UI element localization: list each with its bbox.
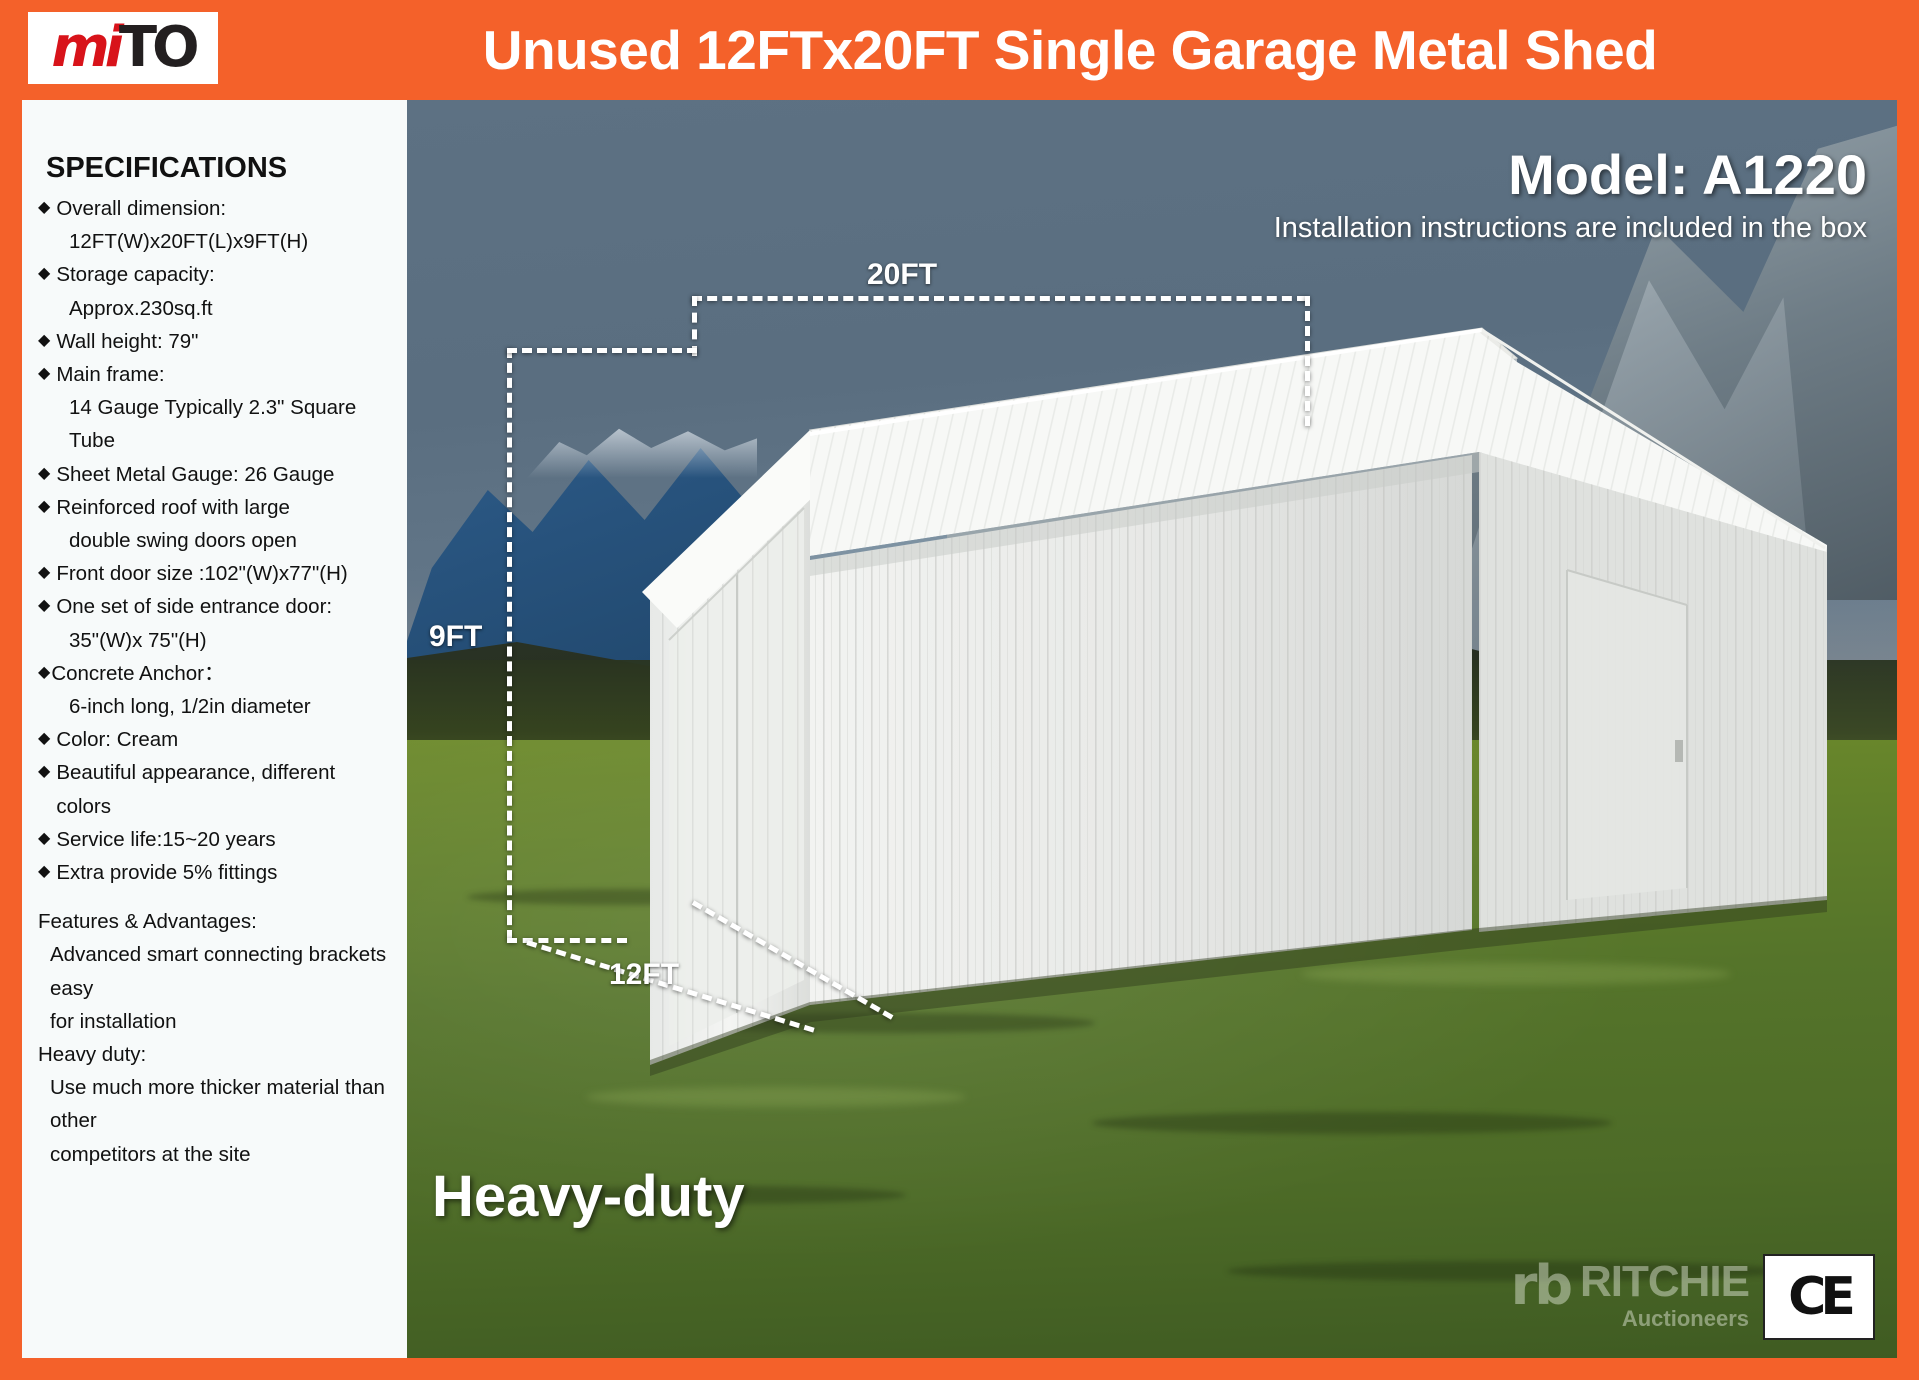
watermark-subtitle: Auctioneers [1580, 1308, 1749, 1330]
ritchie-bros-watermark: rb RITCHIE Auctioneers [1511, 1260, 1749, 1330]
dimension-label-length: 20FT [867, 258, 937, 292]
logo-red-part: mi [51, 15, 119, 80]
watermark-text: RITCHIE Auctioneers [1580, 1260, 1749, 1330]
features-line-2: for installation [38, 1005, 393, 1038]
spec-item: ◆Sheet Metal Gauge: 26 Gauge [38, 458, 393, 491]
spec-item: ◆Reinforced roof with large [38, 491, 393, 524]
model-subtitle: Installation instructions are included i… [1274, 212, 1867, 245]
specifications-panel: SPECIFICATIONS ◆Overall dimension:12FT(W… [22, 100, 407, 1358]
watermark-name: RITCHIE [1580, 1260, 1749, 1304]
bullet-diamond-icon: ◆ [38, 358, 50, 390]
features-line-1: Advanced smart connecting brackets easy [38, 938, 393, 1004]
spec-item-label: Wall height: 79" [56, 325, 393, 358]
bullet-diamond-icon: ◆ [38, 192, 50, 224]
spec-item-continuation: 6-inch long, 1/2in diameter [38, 690, 393, 723]
bullet-diamond-icon: ◆ [38, 258, 50, 290]
features-heading: Features & Advantages: [38, 905, 393, 938]
spec-item-continuation: 14 Gauge Typically 2.3" Square Tube [38, 391, 393, 457]
product-ad-page: miTO Unused 12FTx20FT Single Garage Meta… [0, 0, 1919, 1380]
spec-item-label: Front door size :102"(W)x77"(H) [56, 557, 393, 590]
rb-monogram: rb [1511, 1260, 1570, 1311]
spec-item-label: Reinforced roof with large [56, 491, 393, 524]
bullet-diamond-icon: ◆ [38, 756, 50, 788]
spec-item: ◆Extra provide 5% fittings [38, 856, 393, 889]
bullet-diamond-icon: ◆ [38, 657, 50, 689]
dimension-tick-length-right [1305, 296, 1310, 426]
spec-item-continuation: 35"(W)x 75"(H) [38, 624, 393, 657]
content-frame: SPECIFICATIONS ◆Overall dimension:12FT(W… [22, 100, 1897, 1358]
bullet-diamond-icon: ◆ [38, 458, 50, 490]
header-bar: miTO Unused 12FTx20FT Single Garage Meta… [0, 0, 1919, 100]
spec-item-label: Concrete Anchor： [51, 657, 393, 690]
brand-logo: miTO [28, 12, 218, 84]
tagline-heavy-duty: Heavy-duty [432, 1163, 745, 1230]
spec-item-label: Beautiful appearance, different colors [56, 756, 393, 822]
spec-item: ◆Color: Cream [38, 723, 393, 756]
dimension-label-width: 12FT [609, 958, 679, 992]
dimension-label-height: 9FT [429, 620, 482, 654]
spec-item: ◆One set of side entrance door: [38, 590, 393, 623]
spec-item-label: One set of side entrance door: [56, 590, 393, 623]
spec-item: ◆Front door size :102"(W)x77"(H) [38, 557, 393, 590]
features-block: Features & Advantages: Advanced smart co… [38, 905, 393, 1171]
spec-item-continuation: double swing doors open [38, 524, 393, 557]
page-title: Unused 12FTx20FT Single Garage Metal She… [250, 8, 1890, 92]
spec-item-label: Storage capacity: [56, 258, 393, 291]
dimension-tick-height-bottom [507, 938, 627, 943]
spec-item: ◆Storage capacity: [38, 258, 393, 291]
spec-item: ◆Service life:15~20 years [38, 823, 393, 856]
dimension-tick-height-top [507, 348, 697, 353]
spec-item-continuation: Approx.230sq.ft [38, 292, 393, 325]
bullet-diamond-icon: ◆ [38, 325, 50, 357]
bullet-diamond-icon: ◆ [38, 856, 50, 888]
bullet-diamond-icon: ◆ [38, 723, 50, 755]
spec-item: ◆Concrete Anchor： [38, 657, 393, 690]
specifications-heading: SPECIFICATIONS [46, 152, 393, 185]
dimension-guide-length [692, 296, 1307, 301]
spec-item-label: Sheet Metal Gauge: 26 Gauge [56, 458, 393, 491]
dimension-guide-height [507, 348, 512, 940]
spec-item: ◆Beautiful appearance, different colors [38, 756, 393, 822]
brand-logo-text: miTO [51, 20, 194, 76]
spec-item-label: Service life:15~20 years [56, 823, 393, 856]
spec-item: ◆Main frame: [38, 358, 393, 391]
specifications-list: ◆Overall dimension:12FT(W)x20FT(L)x9FT(H… [38, 192, 393, 889]
bullet-diamond-icon: ◆ [38, 491, 50, 523]
bullet-diamond-icon: ◆ [38, 590, 50, 622]
model-label: Model: A1220 [1508, 142, 1867, 207]
spec-item: ◆Wall height: 79" [38, 325, 393, 358]
ce-mark-badge: CE [1763, 1254, 1875, 1340]
features-subheading: Heavy duty: [38, 1038, 393, 1071]
bullet-diamond-icon: ◆ [38, 823, 50, 855]
spec-item-label: Main frame: [56, 358, 393, 391]
spec-item-continuation: 12FT(W)x20FT(L)x9FT(H) [38, 225, 393, 258]
spec-item-label: Overall dimension: [56, 192, 393, 225]
bullet-diamond-icon: ◆ [38, 557, 50, 589]
spec-item: ◆Overall dimension: [38, 192, 393, 225]
logo-black-part: TO [119, 15, 195, 80]
spec-item-label: Color: Cream [56, 723, 393, 756]
features-line-3: Use much more thicker material than othe… [38, 1071, 393, 1137]
spec-item-label: Extra provide 5% fittings [56, 856, 393, 889]
product-photo: 20FT 9FT 12FT Model: A1220 Installation … [407, 100, 1897, 1358]
ce-mark-text: CE [1788, 1267, 1850, 1327]
dimension-tick-length-left [692, 296, 697, 356]
features-line-4: competitors at the site [38, 1138, 393, 1171]
